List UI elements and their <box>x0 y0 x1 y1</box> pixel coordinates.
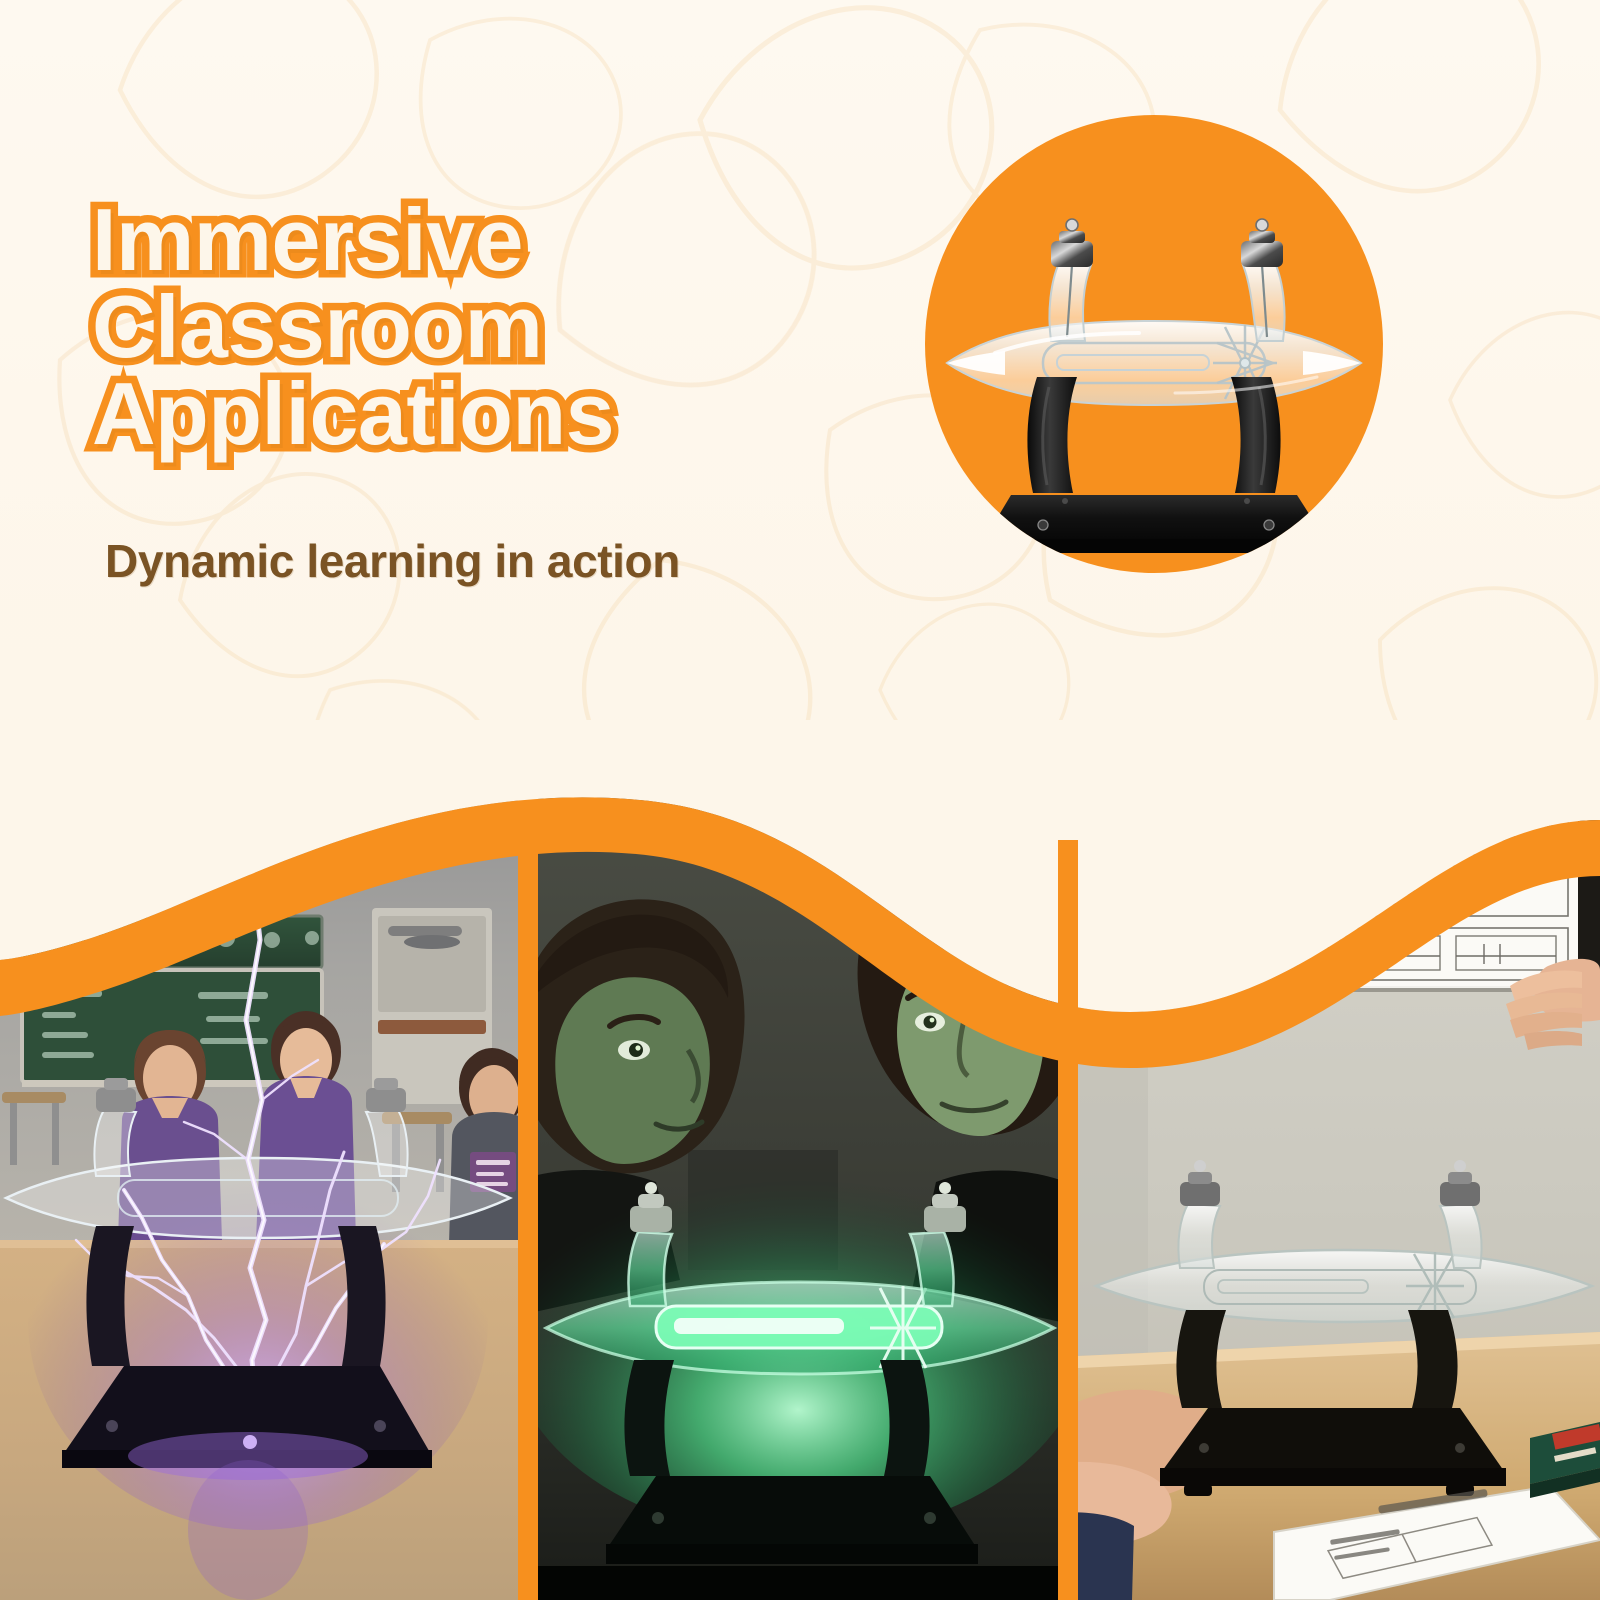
hero-section: Immersive Classroom Applications Dynamic… <box>0 0 1600 800</box>
poster-root: Immersive Classroom Applications Dynamic… <box>0 0 1600 1600</box>
page-title: Immersive Classroom Applications <box>92 196 792 457</box>
wave-divider <box>0 720 1600 1600</box>
page-subtitle: Dynamic learning in action <box>105 534 680 588</box>
crookes-tube-illustration <box>925 115 1383 573</box>
product-badge <box>925 115 1383 573</box>
headline-line-3: Applications <box>92 370 792 457</box>
headline-line-2: Classroom <box>92 283 792 370</box>
photo-strip <box>0 720 1600 1600</box>
headline-line-1: Immersive <box>92 196 792 283</box>
